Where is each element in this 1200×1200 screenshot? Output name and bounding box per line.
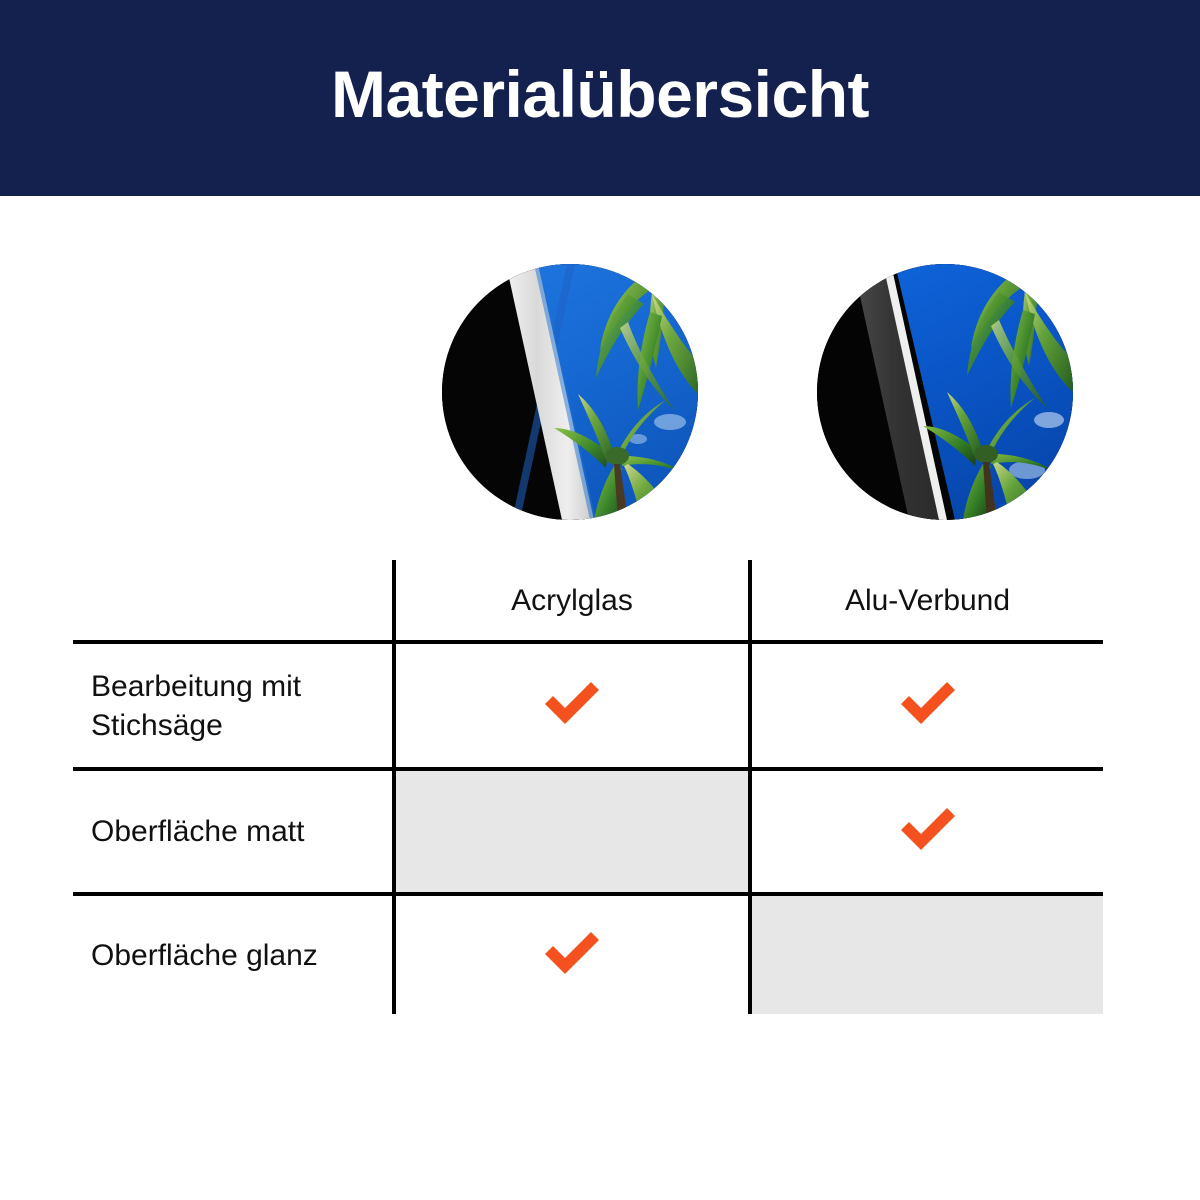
table-header-acrylglas-label: Acrylglas [396,584,748,617]
table-row: Oberfläche matt [73,769,1103,894]
table-header-alu-verbund: Alu-Verbund [750,560,1103,642]
check-icon [542,929,602,982]
table-row: Oberfläche glanz [73,894,1103,1014]
cell-acrylglas [394,642,750,769]
acrylglas-sample-image [442,264,698,520]
cell-alu-verbund-unavailable [750,894,1103,1014]
material-comparison-table: Acrylglas Alu-Verbund Bearbeitung mit St… [73,560,1103,1014]
cell-acrylglas-unavailable [394,769,750,894]
material-comparison-table-wrapper: Acrylglas Alu-Verbund Bearbeitung mit St… [73,560,1103,1010]
page-title: Materialübersicht [331,61,869,127]
table-row: Bearbeitung mit Stichsäge [73,642,1103,769]
row-label-cell: Oberfläche glanz [73,894,394,1014]
table-header-alu-verbund-label: Alu-Verbund [752,584,1103,617]
row-label-cell: Oberfläche matt [73,769,394,894]
table-header-corner [73,560,394,642]
check-icon [898,805,958,858]
table-header-row: Acrylglas Alu-Verbund [73,560,1103,642]
row-label-cell: Bearbeitung mit Stichsäge [73,642,394,769]
check-icon [898,679,958,732]
row-label-text: Oberfläche matt [73,812,392,851]
cell-acrylglas [394,894,750,1014]
material-sample-row [0,264,1200,520]
check-icon [542,679,602,732]
header-banner: Materialübersicht [0,0,1200,196]
table-header-acrylglas: Acrylglas [394,560,750,642]
material-overview-page: Materialübersicht [0,0,1200,1200]
alu-verbund-sample-image [817,264,1073,520]
cell-alu-verbund [750,769,1103,894]
row-label-text: Oberfläche glanz [73,936,392,975]
cell-alu-verbund [750,642,1103,769]
row-label-text: Bearbeitung mit Stichsäge [73,667,392,745]
